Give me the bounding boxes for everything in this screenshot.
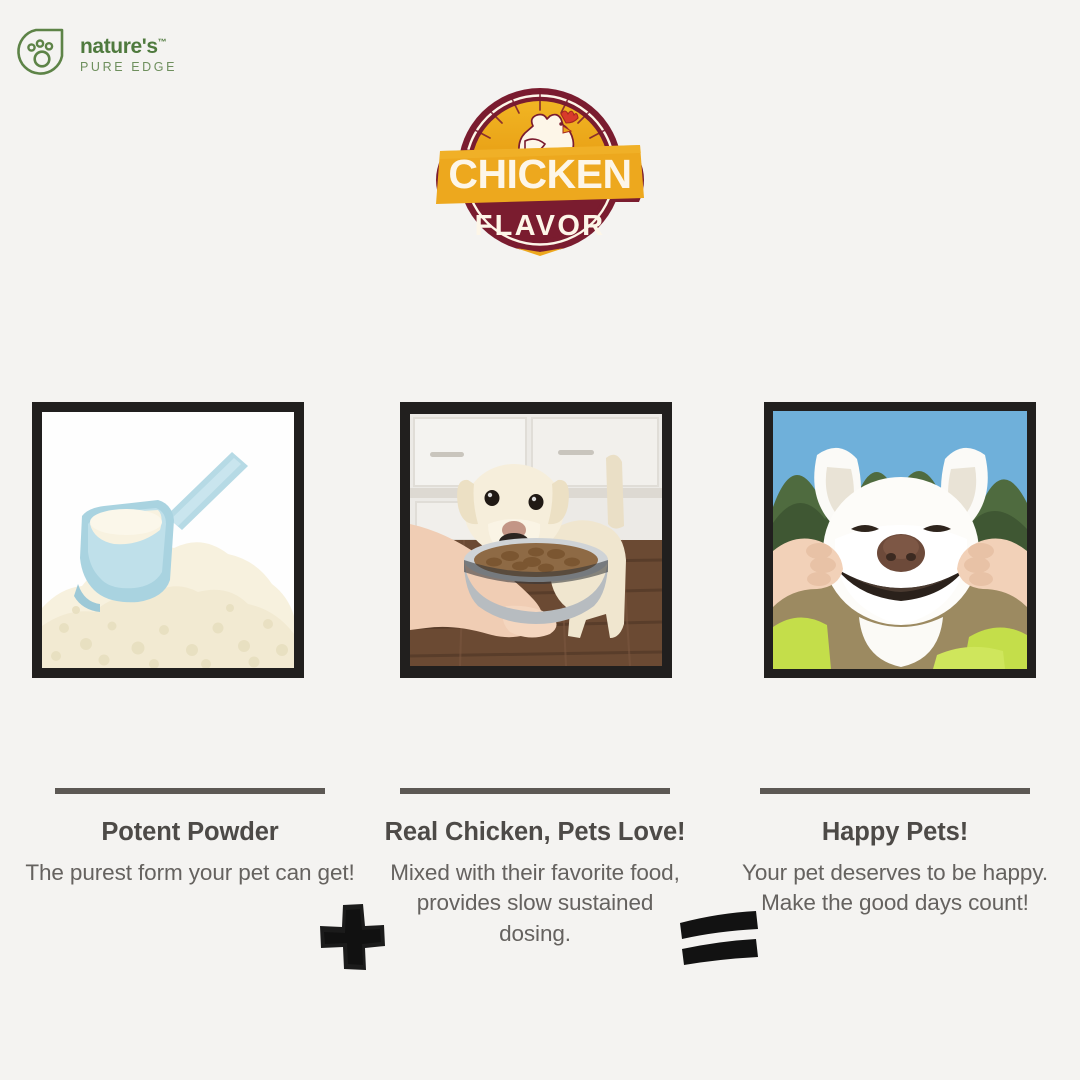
caption-column-1: Potent Powder The purest form your pet c…: [20, 788, 360, 888]
dog-food-bowl-frame: [400, 402, 672, 678]
caption-title: Happy Pets!: [725, 816, 1065, 849]
divider: [400, 788, 670, 794]
caption-body: The purest form your pet can get!: [20, 858, 360, 889]
powder-scoop-photo: [42, 412, 294, 668]
leaf-paw-icon: [16, 26, 70, 80]
caption-body: Mixed with their favorite food, provides…: [365, 858, 705, 950]
product-infographic: nature's™ PURE EDGE: [0, 0, 1080, 1080]
caption-title: Real Chicken, Pets Love!: [365, 816, 705, 849]
badge-line1: CHICKEN: [448, 151, 631, 197]
photo-row: [0, 402, 1080, 680]
badge-line2: FLAVOR: [475, 210, 606, 242]
divider: [760, 788, 1030, 794]
caption-body: Your pet deserves to be happy. Make the …: [725, 858, 1065, 919]
caption-column-2: Real Chicken, Pets Love! Mixed with thei…: [365, 788, 705, 949]
happy-dog-photo: [773, 411, 1027, 669]
caption-title: Potent Powder: [20, 816, 360, 849]
powder-scoop-frame: [32, 402, 304, 678]
chicken-flavor-badge: FLAVOR CHICKEN: [411, 78, 669, 273]
trademark-symbol: ™: [158, 37, 167, 47]
happy-dog-frame: [764, 402, 1036, 678]
brand-tagline: PURE EDGE: [80, 61, 177, 74]
caption-column-3: Happy Pets! Your pet deserves to be happ…: [725, 788, 1065, 919]
dog-food-bowl-photo: [410, 414, 662, 666]
divider: [55, 788, 325, 794]
brand-logo: nature's™ PURE EDGE: [16, 26, 177, 80]
brand-name: nature's™: [80, 36, 177, 57]
